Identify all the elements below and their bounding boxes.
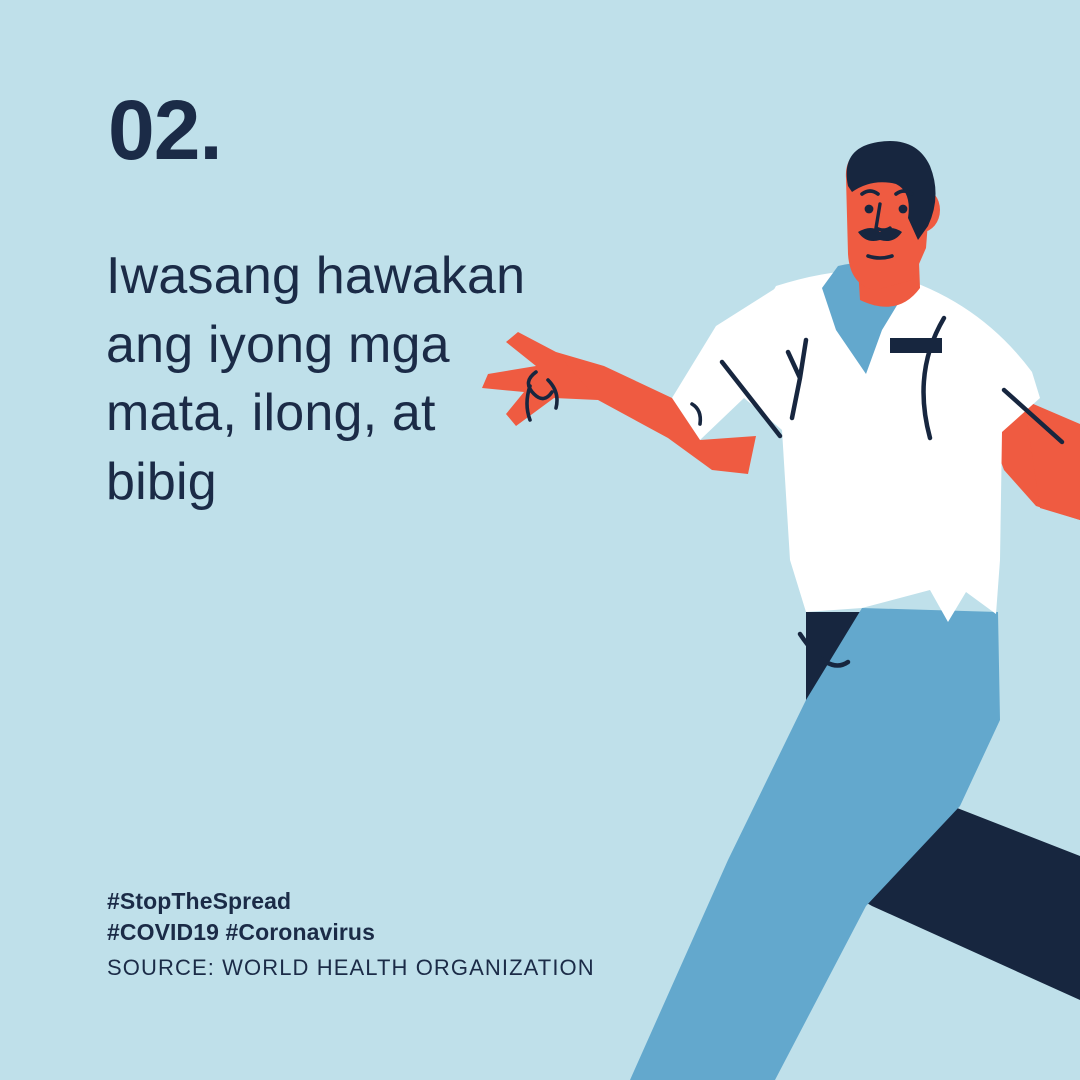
step-number: 02.: [108, 88, 222, 172]
hashtags-block: #StopTheSpread #COVID19 #Coronavirus: [107, 886, 375, 947]
chest-pocket-bar: [890, 338, 942, 353]
headline-text: Iwasang hawakan ang iyong mga mata, ilon…: [106, 242, 526, 517]
mouth: [868, 256, 892, 258]
eye-right: [899, 205, 908, 214]
eye-left: [865, 205, 874, 214]
hashtag-line-1: #StopTheSpread: [107, 886, 375, 917]
source-attribution: SOURCE: WORLD HEALTH ORGANIZATION: [107, 955, 595, 981]
shirt-torso: [738, 271, 1040, 622]
poster-canvas: 02. Iwasang hawakan ang iyong mga mata, …: [0, 0, 1080, 1080]
hashtag-line-2: #COVID19 #Coronavirus: [107, 917, 375, 948]
